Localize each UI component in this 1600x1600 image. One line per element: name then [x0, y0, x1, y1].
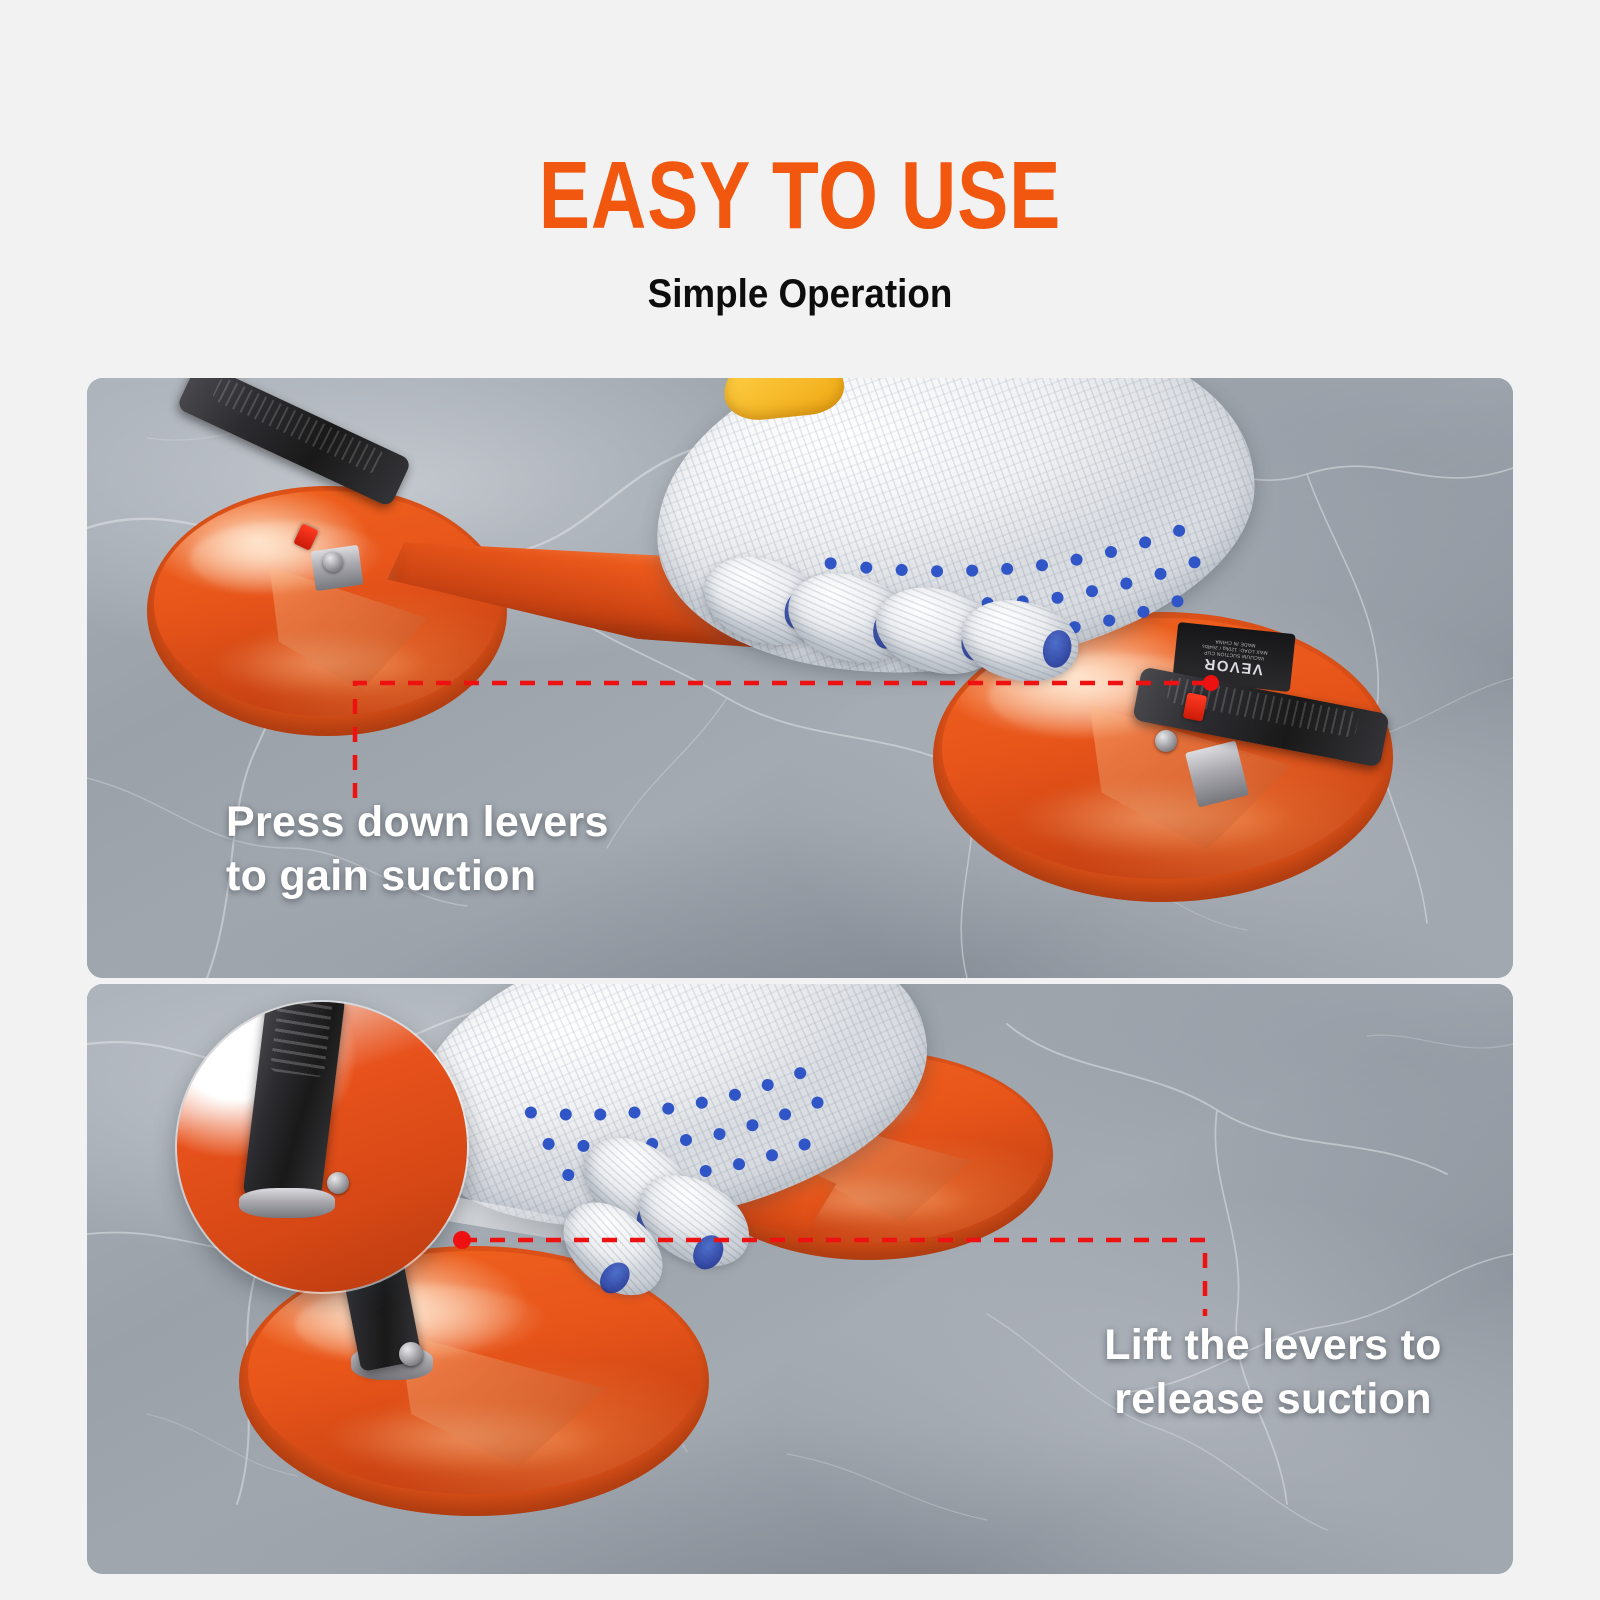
lever-pivot-right: [1155, 730, 1177, 752]
step-2-caption: Lift the levers to release suction: [1063, 1318, 1483, 1426]
magnified-lever-grip: [270, 1002, 332, 1078]
page-subheadline: Simple Operation: [64, 272, 1536, 316]
lever-pivot-left: [323, 552, 343, 572]
suction-cup-left: [147, 460, 527, 760]
page-headline: EASY TO USE: [160, 148, 1440, 244]
magnified-lever-detail: [177, 1002, 467, 1292]
step-1-caption: Press down levers to gain suction: [226, 795, 609, 903]
infographic-page: EASY TO USE Simple Operation: [0, 0, 1600, 1600]
magnified-lever-steel-tab: [239, 1188, 335, 1218]
step-2-photo-panel: VEVOR: [87, 984, 1513, 1574]
magnified-lever-pivot: [327, 1172, 349, 1194]
lever-pivot-front: [399, 1342, 423, 1366]
cup-body-left: [147, 486, 507, 736]
step-1-photo-panel: VEVOR VACUUM SUCTION CUP MAX LOAD: 120kg…: [87, 378, 1513, 978]
